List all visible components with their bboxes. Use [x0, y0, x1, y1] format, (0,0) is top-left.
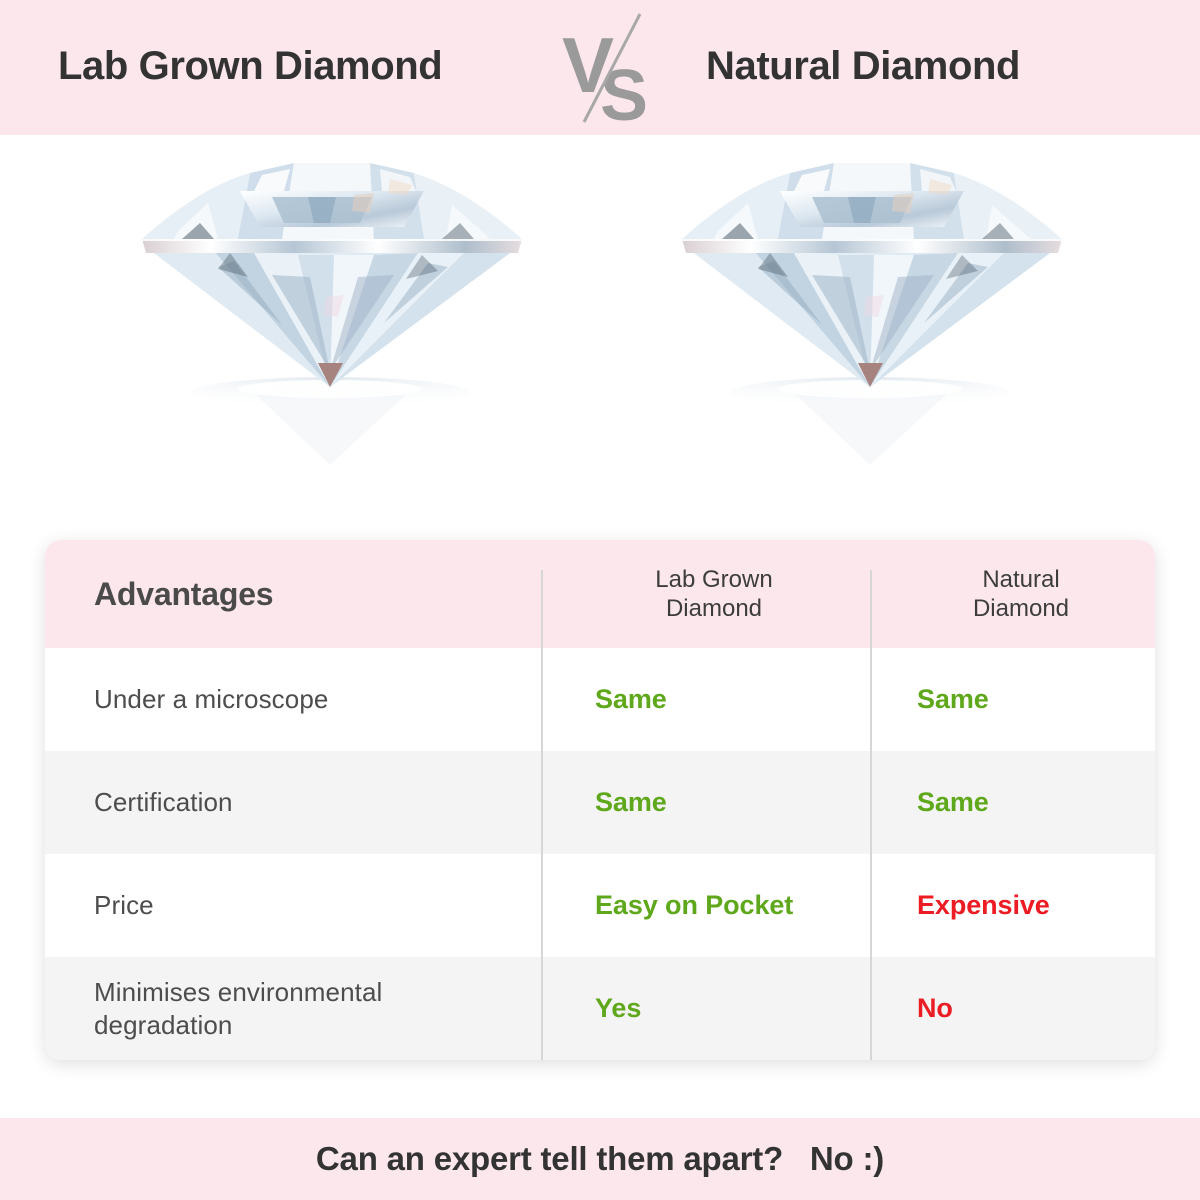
feature-label: Under a microscope [94, 683, 328, 716]
comparison-infographic: Lab Grown Diamond V S Natural Diamond [0, 0, 1200, 1200]
vs-separator-icon: V S [556, 8, 666, 126]
row-natural-cell: No [871, 957, 1155, 1060]
table-header-cell-natural: Natural Diamond [871, 540, 1155, 648]
row-feature-cell: Under a microscope [45, 648, 542, 751]
comparison-table-card: Advantages Lab Grown Diamond Natural Dia… [45, 540, 1155, 1060]
column-header-advantages: Advantages [94, 576, 273, 613]
row-feature-cell: Minimises environmental degradation [45, 957, 542, 1060]
feature-label-line2: degradation [94, 1010, 232, 1040]
column-header-lab-grown-line2: Diamond [666, 595, 762, 622]
feature-label-line1: Minimises environmental [94, 977, 382, 1007]
natural-value: No [917, 993, 953, 1024]
table-row: Minimises environmental degradation Yes … [45, 957, 1155, 1060]
lab-grown-value: Yes [595, 993, 641, 1024]
row-natural-cell: Same [871, 648, 1155, 751]
column-header-lab-grown-line1: Lab Grown [655, 566, 772, 593]
row-lab-grown-cell: Same [542, 648, 871, 751]
header-band: Lab Grown Diamond V S Natural Diamond [0, 0, 1200, 135]
lab-grown-diamond-image [122, 135, 542, 465]
header-title-lab-grown: Lab Grown Diamond [58, 44, 442, 89]
header-title-natural: Natural Diamond [706, 44, 1020, 89]
column-header-natural-line1: Natural [982, 566, 1059, 593]
table-header-cell-lab-grown: Lab Grown Diamond [542, 540, 871, 648]
footer-band: Can an expert tell them apart? No :) [0, 1118, 1200, 1200]
column-header-lab-grown: Lab Grown Diamond [595, 565, 861, 624]
lab-grown-value: Same [595, 787, 667, 818]
row-feature-cell: Price [45, 854, 542, 957]
header-inner: Lab Grown Diamond V S Natural Diamond [0, 0, 1200, 135]
natural-value: Expensive [917, 890, 1050, 921]
diamond-hero-area [0, 135, 1200, 530]
natural-value: Same [917, 787, 989, 818]
footer-question-answer: Can an expert tell them apart? No :) [316, 1140, 884, 1178]
row-natural-cell: Expensive [871, 854, 1155, 957]
row-feature-cell: Certification [45, 751, 542, 854]
column-header-natural: Natural Diamond [917, 565, 1145, 624]
row-natural-cell: Same [871, 751, 1155, 854]
table-row: Certification Same Same [45, 751, 1155, 854]
feature-label: Price [94, 889, 154, 922]
table-row: Under a microscope Same Same [45, 648, 1155, 751]
feature-label: Minimises environmental degradation [94, 976, 382, 1041]
row-lab-grown-cell: Same [542, 751, 871, 854]
comparison-table: Advantages Lab Grown Diamond Natural Dia… [45, 540, 1155, 1060]
table-header-row: Advantages Lab Grown Diamond Natural Dia… [45, 540, 1155, 648]
svg-text:S: S [600, 56, 648, 126]
feature-label: Certification [94, 786, 233, 819]
column-divider-2 [870, 570, 872, 1060]
row-lab-grown-cell: Easy on Pocket [542, 854, 871, 957]
natural-value: Same [917, 684, 989, 715]
table-row: Price Easy on Pocket Expensive [45, 854, 1155, 957]
lab-grown-value: Same [595, 684, 667, 715]
table-header-cell-advantages: Advantages [45, 540, 542, 648]
column-divider-1 [541, 570, 543, 1060]
row-lab-grown-cell: Yes [542, 957, 871, 1060]
natural-diamond-image [662, 135, 1082, 465]
lab-grown-value: Easy on Pocket [595, 890, 793, 921]
column-header-natural-line2: Diamond [973, 595, 1069, 622]
